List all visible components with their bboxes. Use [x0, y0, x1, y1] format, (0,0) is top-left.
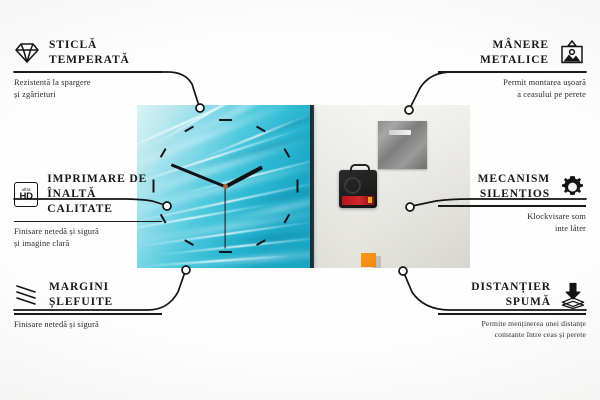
connector-dot-silent-mechanism	[406, 203, 414, 211]
feature-tempered-glass[interactable]: STICLĂ TEMPERATĂ Rezistentă la spargere …	[14, 38, 162, 101]
connector-dot-tempered-glass	[196, 104, 204, 112]
connector-dot-foam-spacer	[399, 267, 407, 275]
feature-title: DISTANȚIER SPUMĂ	[471, 280, 551, 310]
feature-title: MÂNERE METALICE	[480, 38, 549, 68]
feature-subtitle: Finisare netedă și sigură și imagine cla…	[14, 226, 162, 250]
title-rule	[14, 71, 162, 73]
connector-dot-metal-handles	[405, 106, 413, 114]
feature-title: IMPRIMARE DE ÎNALTĂ CALITATE	[47, 172, 162, 218]
connector-dot-polished-edges	[182, 266, 190, 274]
feature-title: STICLĂ TEMPERATĂ	[49, 38, 130, 68]
feature-subtitle: Finisare netedă și sigură	[14, 319, 162, 331]
hd-badge-main: HD	[19, 192, 32, 202]
diamond-icon	[14, 41, 40, 65]
title-rule	[438, 313, 586, 315]
feature-foam-spacer[interactable]: DISTANȚIER SPUMĂ Permite menținerea unei…	[438, 280, 586, 340]
feature-title: MARGINI ȘLEFUITE	[49, 280, 113, 310]
infographic-canvas: STICLĂ TEMPERATĂ Rezistentă la spargere …	[0, 0, 600, 400]
diagonal-lines-icon	[14, 284, 40, 306]
feature-silent-mechanism[interactable]: MECANISM SILENȚIOS Klockvisare som inte …	[438, 172, 586, 235]
feature-subtitle: Rezistentă la spargere și zgârieturi	[14, 77, 162, 101]
title-rule	[438, 205, 586, 207]
ultra-hd-icon: ultra HD	[14, 182, 38, 207]
feature-metal-handles[interactable]: MÂNERE METALICE Permit montarea ușoară a…	[438, 38, 586, 101]
feature-hd-print[interactable]: ultra HD IMPRIMARE DE ÎNALTĂ CALITATE Fi…	[14, 172, 162, 250]
gear-icon	[559, 174, 586, 201]
feature-subtitle: Permit montarea ușoară a ceasului pe per…	[438, 77, 586, 101]
title-rule	[438, 71, 586, 73]
picture-hanger-icon	[558, 40, 586, 66]
arrow-down-layer-icon	[560, 282, 586, 309]
feature-subtitle: Permite menținerea unei distanțe constan…	[438, 319, 586, 341]
title-rule	[14, 313, 162, 315]
connector-dot-hd-print	[163, 202, 171, 210]
feature-title: MECANISM SILENȚIOS	[478, 172, 550, 202]
feature-polished-edges[interactable]: MARGINI ȘLEFUITE Finisare netedă și sigu…	[14, 280, 162, 331]
feature-subtitle: Klockvisare som inte låter	[438, 211, 586, 235]
title-rule	[14, 221, 162, 223]
